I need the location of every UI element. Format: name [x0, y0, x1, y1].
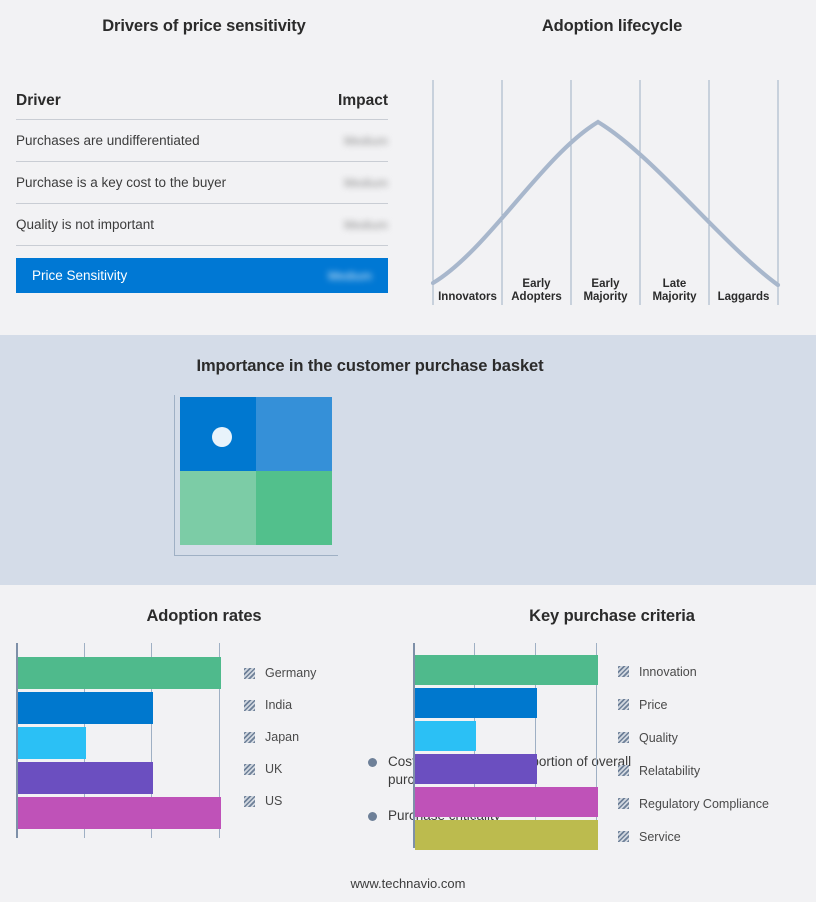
summary-impact-value: Medium: [328, 269, 372, 283]
driver-label: Purchase is a key cost to the buyer: [16, 175, 226, 190]
bar-relatability: [415, 754, 537, 784]
legend-label: Service: [639, 830, 681, 844]
list-item: Price: [618, 688, 769, 721]
legend-label: Innovation: [639, 665, 697, 679]
footer-url: www.technavio.com: [0, 876, 816, 891]
hatch-swatch-icon: [618, 732, 629, 743]
hatch-swatch-icon: [244, 764, 255, 775]
legend-label: US: [265, 794, 282, 808]
lifecycle-label-early-adopters-line1: Early: [522, 278, 551, 290]
hatch-swatch-icon: [618, 798, 629, 809]
legend-label: Japan: [265, 730, 299, 744]
bar-germany: [18, 657, 221, 689]
list-item: Quality: [618, 721, 769, 754]
column-header-impact: Impact: [338, 92, 388, 110]
legend-label: Price: [639, 698, 667, 712]
hatch-swatch-icon: [618, 699, 629, 710]
lifecycle-label-early-majority-line1: Early: [591, 278, 620, 290]
bar-innovation: [415, 655, 598, 685]
bar-us: [18, 797, 221, 829]
matrix-quadrants: [180, 397, 332, 545]
lifecycle-label-innovators-line2: Innovators: [438, 291, 497, 303]
purchase-basket-matrix: [180, 397, 332, 545]
list-item: India: [244, 689, 316, 721]
list-item: US: [244, 785, 316, 817]
hatch-swatch-icon: [618, 666, 629, 677]
bar-uk: [18, 762, 153, 794]
hatch-swatch-icon: [244, 668, 255, 679]
list-item: UK: [244, 753, 316, 785]
adoption-rates-panel: Adoption rates Germany India Japa: [0, 585, 408, 902]
legend-label: India: [265, 698, 292, 712]
drivers-table: Driver Impact Purchases are undifferenti…: [16, 92, 388, 293]
legend-label: Regulatory Compliance: [639, 797, 769, 811]
lifecycle-curve: [433, 122, 778, 285]
driver-label: Purchases are undifferentiated: [16, 133, 200, 148]
lifecycle-label-early-adopters-line2: Adopters: [511, 291, 561, 303]
list-item: Innovation: [618, 655, 769, 688]
lifecycle-category-labels: Innovators Early Adopters Early Majority…: [438, 278, 769, 303]
table-row: Quality is not important Medium: [16, 204, 388, 246]
matrix-x-axis: [174, 555, 338, 556]
bar-regulatory-compliance: [415, 787, 598, 817]
column-header-driver: Driver: [16, 92, 61, 110]
summary-label: Price Sensitivity: [32, 268, 127, 283]
list-item: Regulatory Compliance: [618, 787, 769, 820]
legend-label: Quality: [639, 731, 678, 745]
table-row: Purchase is a key cost to the buyer Medi…: [16, 162, 388, 204]
list-item: Service: [618, 820, 769, 853]
legend-label: Relatability: [639, 764, 700, 778]
lifecycle-label-laggards-line2: Laggards: [718, 291, 770, 303]
bar-price: [415, 688, 537, 718]
key-purchase-criteria-chart: Innovation Price Quality Relatability Re…: [413, 643, 813, 858]
matrix-quadrant-top-right: [256, 397, 332, 471]
importance-in-purchase-basket-panel: Importance in the customer purchase bask…: [0, 335, 816, 585]
bar-service: [415, 820, 598, 850]
adoption-legend: Germany India Japan UK US: [244, 657, 316, 817]
impact-value: Medium: [344, 218, 388, 232]
table-row: Purchases are undifferentiated Medium: [16, 120, 388, 162]
matrix-position-marker-dot: [212, 427, 232, 447]
list-item: Japan: [244, 721, 316, 753]
criteria-plot-area: [413, 643, 598, 848]
criteria-legend: Innovation Price Quality Relatability Re…: [618, 655, 769, 853]
matrix-quadrant-bottom-right: [256, 471, 332, 545]
legend-label: Germany: [265, 666, 316, 680]
hatch-swatch-icon: [618, 765, 629, 776]
hatch-swatch-icon: [244, 732, 255, 743]
adoption-plot-area: [16, 643, 221, 838]
lifecycle-label-late-majority-line2: Majority: [652, 291, 697, 303]
drivers-panel-title: Drivers of price sensitivity: [0, 17, 408, 36]
adoption-rates-chart: Germany India Japan UK US: [16, 643, 406, 853]
hatch-swatch-icon: [244, 700, 255, 711]
adoption-lifecycle-panel: Adoption lifecycle Innovators Early Adop…: [408, 0, 816, 335]
driver-label: Quality is not important: [16, 217, 154, 232]
impact-value: Medium: [344, 134, 388, 148]
bar-japan: [18, 727, 86, 759]
hatch-swatch-icon: [618, 831, 629, 842]
list-item: Relatability: [618, 754, 769, 787]
lifecycle-bell-curve-chart: Innovators Early Adopters Early Majority…: [408, 0, 816, 335]
list-item: Germany: [244, 657, 316, 689]
criteria-panel-title: Key purchase criteria: [408, 607, 816, 626]
matrix-quadrant-bottom-left: [180, 471, 256, 545]
impact-value: Medium: [344, 176, 388, 190]
key-purchase-criteria-panel: Key purchase criteria Innovation Price: [408, 585, 816, 902]
lifecycle-gridlines: [433, 80, 778, 305]
importance-panel-title: Importance in the customer purchase bask…: [130, 357, 610, 376]
price-sensitivity-summary-row: Price Sensitivity Medium: [16, 258, 388, 293]
bar-quality: [415, 721, 476, 751]
bar-india: [18, 692, 153, 724]
matrix-y-axis: [174, 395, 175, 555]
adoption-panel-title: Adoption rates: [0, 607, 408, 626]
lifecycle-label-late-majority-line1: Late: [663, 278, 687, 290]
lifecycle-label-early-majority-line2: Majority: [583, 291, 628, 303]
drivers-of-price-sensitivity-panel: Drivers of price sensitivity Driver Impa…: [0, 0, 408, 335]
legend-label: UK: [265, 762, 282, 776]
drivers-table-header: Driver Impact: [16, 92, 388, 120]
hatch-swatch-icon: [244, 796, 255, 807]
